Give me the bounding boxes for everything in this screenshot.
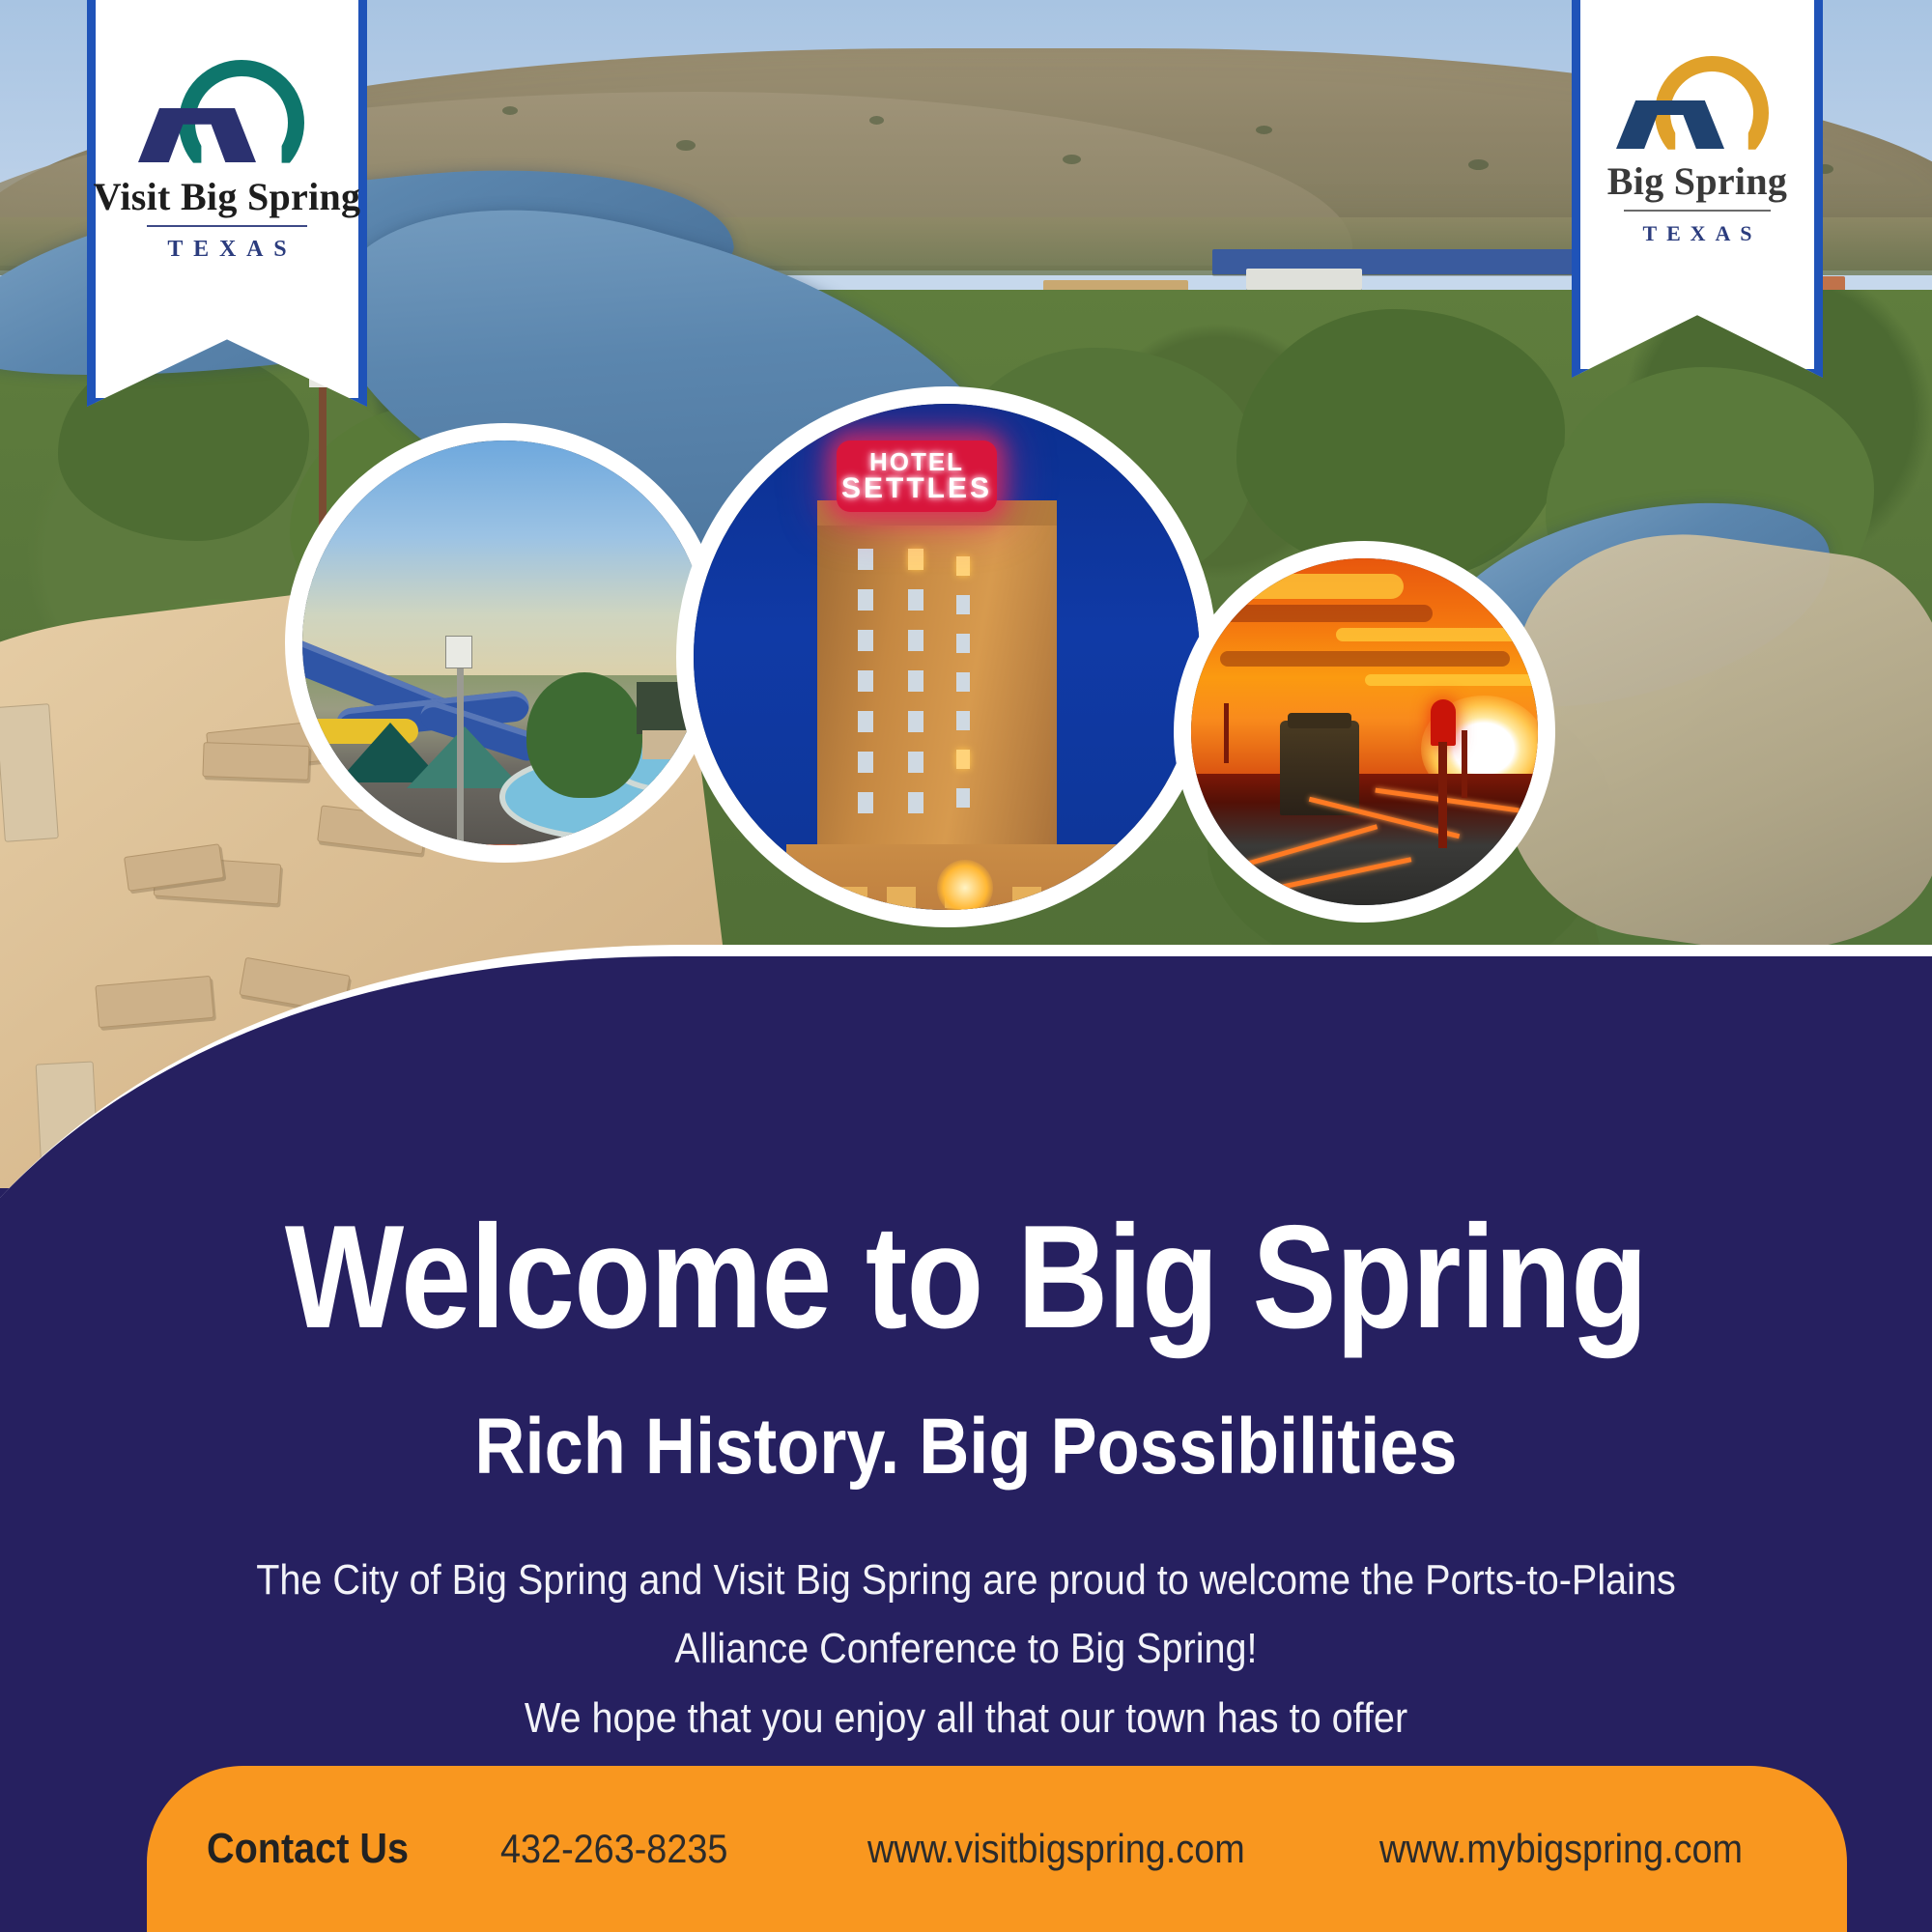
roof: [1246, 269, 1362, 290]
poster-canvas: HOTEL SETTLES: [0, 0, 1932, 1932]
window: [908, 792, 923, 813]
welcome-line-3: We hope that you enjoy all that our town…: [97, 1684, 1835, 1752]
stone-bench: [202, 742, 309, 781]
logo-wordmark: Big Spring: [1607, 158, 1787, 204]
window: [956, 634, 970, 653]
logo-divider-rule: [147, 225, 307, 227]
window: [908, 711, 923, 732]
waterpark-photo-circle: [285, 423, 724, 863]
logo-state-label: TEXAS: [1634, 221, 1762, 246]
contact-website-mybigspring[interactable]: www.mybigspring.com: [1379, 1826, 1743, 1872]
tree-cluster: [1236, 309, 1565, 580]
window: [908, 589, 923, 611]
waterpark-sky: [302, 440, 707, 683]
window: [858, 711, 873, 732]
signal-post: [1438, 742, 1447, 848]
big-spring-logo-mark: [1610, 56, 1784, 153]
welcome-line-2: Alliance Conference to Big Spring!: [97, 1614, 1835, 1683]
sunset-ground: [1191, 774, 1538, 905]
window: [887, 887, 916, 908]
stone-slab: [0, 703, 59, 842]
logo-divider-rule: [1624, 210, 1771, 212]
window: [956, 788, 970, 808]
page-subtitle: Rich History. Big Possibilities: [116, 1406, 1816, 1489]
window: [1012, 887, 1041, 908]
window: [908, 670, 923, 692]
tree: [526, 672, 642, 798]
window: [858, 792, 873, 813]
street-lamp-glow: [937, 860, 993, 916]
cloud: [1365, 674, 1539, 686]
logo-wordmark: Visit Big Spring: [94, 174, 361, 219]
shrub-speck: [502, 106, 518, 115]
shrub-speck: [1256, 126, 1272, 134]
signal-post: [1462, 730, 1467, 798]
contact-website-visitbigspring[interactable]: www.visitbigspring.com: [867, 1826, 1245, 1872]
no-parking-sign: [445, 636, 472, 668]
logo-state-label: TEXAS: [157, 237, 298, 263]
hotel-settles-neon-sign: HOTEL SETTLES: [837, 440, 997, 512]
welcome-line-1: The City of Big Spring and Visit Big Spr…: [97, 1546, 1835, 1614]
locomotive-roof: [1288, 713, 1351, 728]
cloud: [1201, 605, 1433, 622]
window: [908, 752, 923, 773]
sign-line-1: HOTEL: [869, 449, 964, 474]
window-lit: [956, 556, 970, 576]
welcome-message: The City of Big Spring and Visit Big Spr…: [97, 1546, 1835, 1752]
window: [956, 595, 970, 614]
window-lit: [908, 549, 923, 570]
cloud: [1336, 628, 1529, 641]
contact-bar: Contact Us 432-263-8235 www.visitbigspri…: [147, 1766, 1847, 1932]
window: [956, 711, 970, 730]
window: [838, 887, 867, 908]
window: [858, 630, 873, 651]
cloud: [1220, 651, 1510, 667]
railroad-signal: [1431, 699, 1456, 746]
window: [858, 589, 873, 611]
window-lit: [956, 750, 970, 769]
contact-label: Contact Us: [207, 1825, 409, 1873]
visit-big-spring-logo-mark: [130, 60, 324, 166]
shrub-speck: [869, 116, 884, 125]
window: [956, 672, 970, 692]
window: [858, 670, 873, 692]
window: [908, 630, 923, 651]
railroad-sunset-photo-circle: [1174, 541, 1555, 923]
hotel-settles-photo-circle: HOTEL SETTLES: [676, 386, 1217, 927]
sign-line-2: SETTLES: [841, 474, 992, 503]
window: [858, 549, 873, 570]
window: [1080, 887, 1109, 908]
cloud: [1230, 574, 1404, 599]
utility-pole: [1224, 703, 1229, 763]
window: [858, 752, 873, 773]
page-title: Welcome to Big Spring: [135, 1203, 1797, 1352]
contact-phone[interactable]: 432-263-8235: [500, 1826, 727, 1872]
sign-post: [457, 639, 464, 851]
